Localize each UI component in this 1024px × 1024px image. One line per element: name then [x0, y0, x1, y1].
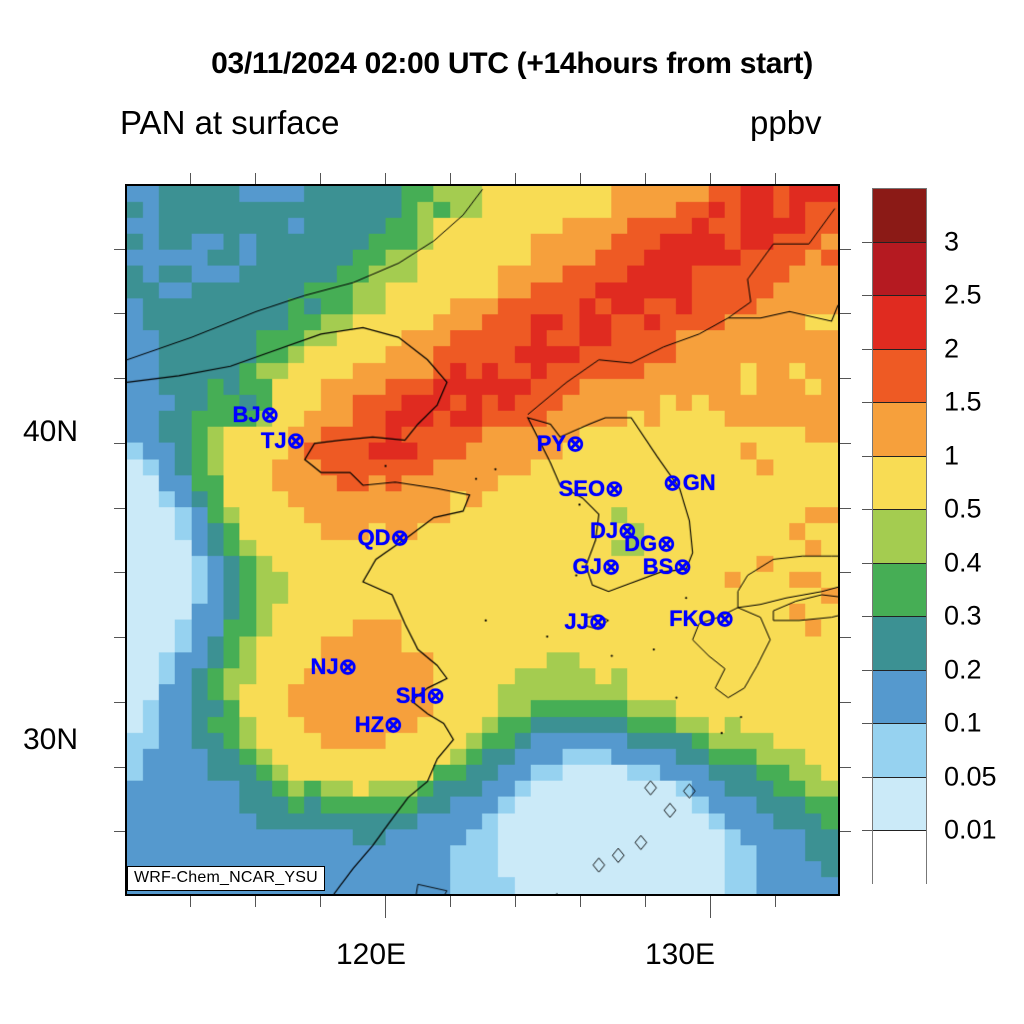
station-marker-qd[interactable]: QD⊗ [358, 525, 409, 551]
x-axis-label-130e: 130E [645, 938, 715, 972]
x-tick [710, 896, 711, 918]
colorbar-band [873, 564, 926, 618]
y-tick-right [840, 313, 851, 314]
station-label: JJ [564, 611, 588, 633]
x-tick-top [710, 173, 711, 184]
station-marker-gj[interactable]: GJ⊗ [572, 554, 620, 580]
x-tick-top [775, 173, 776, 184]
colorbar-band [873, 243, 926, 297]
y-tick-right [840, 767, 851, 768]
y-tick-right [840, 249, 851, 250]
colorbar-tick [862, 456, 872, 457]
y-axis-label-30n: 30N [23, 723, 78, 757]
station-cross-circle-icon: ⊗ [716, 606, 734, 632]
colorbar-tick [862, 295, 872, 296]
colorbar-band [873, 403, 926, 457]
station-label: SEO [559, 478, 605, 500]
station-cross-circle-icon: ⊗ [391, 525, 409, 551]
y-tick-right [840, 831, 851, 832]
colorbar-tick [862, 242, 872, 243]
y-tick [114, 831, 125, 832]
station-marker-jj[interactable]: JJ⊗ [564, 609, 607, 635]
colorbar-label: 1 [944, 440, 959, 471]
station-label: BJ [232, 404, 260, 426]
y-tick-right [840, 508, 851, 509]
station-label: QD [358, 527, 391, 549]
x-tick [385, 896, 386, 918]
colorbar-band [873, 724, 926, 778]
colorbar-tick [862, 349, 872, 350]
station-marker-bj[interactable]: BJ⊗ [232, 402, 279, 428]
x-tick [255, 896, 256, 907]
x-tick-top [320, 173, 321, 184]
colorbar-label: 2 [944, 333, 959, 364]
station-marker-tj[interactable]: TJ⊗ [261, 428, 305, 454]
x-tick-top [580, 173, 581, 184]
x-tick-top [450, 173, 451, 184]
station-cross-circle-icon: ⊗ [566, 431, 584, 457]
station-cross-circle-icon: ⊗ [384, 712, 402, 738]
colorbar-label: 1.5 [944, 387, 982, 418]
colorbar-band [873, 671, 926, 725]
x-tick [645, 896, 646, 907]
colorbar-tick [862, 402, 872, 403]
colorbar-tick [862, 509, 872, 510]
page-title: 03/11/2024 02:00 UTC (+14hours from star… [0, 47, 1024, 81]
y-tick-right [840, 572, 851, 573]
y-tick [114, 572, 125, 573]
station-cross-circle-icon: ⊗ [261, 402, 279, 428]
y-tick-right [840, 637, 851, 638]
x-tick [515, 896, 516, 907]
y-tick [114, 443, 125, 444]
y-tick-right [840, 702, 851, 703]
y-tick-right [840, 378, 851, 379]
colorbar-band [873, 617, 926, 671]
colorbar [872, 188, 927, 884]
x-tick [320, 896, 321, 907]
colorbar-label: 0.4 [944, 547, 982, 578]
contour-field-canvas [127, 186, 838, 894]
y-tick-right [840, 443, 851, 444]
station-label: SH [396, 685, 427, 707]
map-plot-area [125, 184, 840, 896]
station-marker-py[interactable]: PY⊗ [537, 431, 585, 457]
station-cross-circle-icon: ⊗ [287, 428, 305, 454]
x-tick-top [255, 173, 256, 184]
station-label: PY [537, 433, 566, 455]
station-cross-circle-icon: ⊗ [673, 554, 691, 580]
colorbar-band [873, 189, 926, 243]
field-title: PAN at surface [120, 104, 339, 142]
colorbar-label: 2.5 [944, 280, 982, 311]
station-marker-hz[interactable]: HZ⊗ [355, 712, 403, 738]
colorbar-tick [862, 723, 872, 724]
station-marker-fko[interactable]: FKO⊗ [669, 606, 734, 632]
x-tick [775, 896, 776, 907]
model-watermark: WRF-Chem_NCAR_YSU [127, 866, 325, 891]
y-tick [114, 702, 125, 703]
colorbar-label: 0.5 [944, 494, 982, 525]
x-tick-top [385, 173, 386, 184]
colorbar-tick [862, 777, 872, 778]
station-marker-gn[interactable]: ⊗GN [663, 470, 715, 496]
station-cross-circle-icon: ⊗ [605, 476, 623, 502]
colorbar-band [873, 831, 926, 885]
station-label: NJ [310, 656, 338, 678]
y-tick [114, 313, 125, 314]
station-label: GN [683, 472, 716, 494]
x-tick [580, 896, 581, 907]
x-tick-top [515, 173, 516, 184]
colorbar-label: 0.2 [944, 654, 982, 685]
y-tick [114, 637, 125, 638]
station-marker-seo[interactable]: SEO⊗ [559, 476, 624, 502]
station-label: TJ [261, 430, 287, 452]
station-cross-circle-icon: ⊗ [339, 654, 357, 680]
units-label: ppbv [750, 104, 822, 142]
x-tick [450, 896, 451, 907]
station-label: HZ [355, 714, 384, 736]
station-cross-circle-icon: ⊗ [589, 609, 607, 635]
colorbar-band [873, 778, 926, 832]
colorbar-label: 0.05 [944, 761, 997, 792]
y-tick [114, 378, 125, 379]
station-cross-circle-icon: ⊗ [426, 683, 444, 709]
station-cross-circle-icon: ⊗ [602, 554, 620, 580]
station-marker-bs[interactable]: BS⊗ [643, 554, 692, 580]
colorbar-label: 3 [944, 226, 959, 257]
station-marker-sh[interactable]: SH⊗ [396, 683, 445, 709]
station-cross-circle-icon: ⊗ [663, 470, 681, 496]
x-tick-top [190, 173, 191, 184]
colorbar-label: 0.1 [944, 708, 982, 739]
x-tick [190, 896, 191, 907]
colorbar-band [873, 510, 926, 564]
y-axis-label-40n: 40N [23, 415, 78, 449]
colorbar-label: 0.01 [944, 815, 997, 846]
station-label: FKO [669, 608, 715, 630]
y-tick [114, 767, 125, 768]
station-marker-nj[interactable]: NJ⊗ [310, 654, 357, 680]
colorbar-tick [862, 563, 872, 564]
x-axis-label-120e: 120E [336, 938, 406, 972]
colorbar-label: 0.3 [944, 601, 982, 632]
station-label: BS [643, 556, 674, 578]
y-tick [114, 249, 125, 250]
colorbar-band [873, 350, 926, 404]
colorbar-tick [862, 830, 872, 831]
station-label: GJ [572, 556, 601, 578]
colorbar-tick [862, 670, 872, 671]
y-tick [114, 508, 125, 509]
colorbar-band [873, 457, 926, 511]
colorbar-tick [862, 616, 872, 617]
x-tick-top [645, 173, 646, 184]
station-label: DG [624, 533, 657, 555]
colorbar-band [873, 296, 926, 350]
station-label: DJ [590, 520, 618, 542]
